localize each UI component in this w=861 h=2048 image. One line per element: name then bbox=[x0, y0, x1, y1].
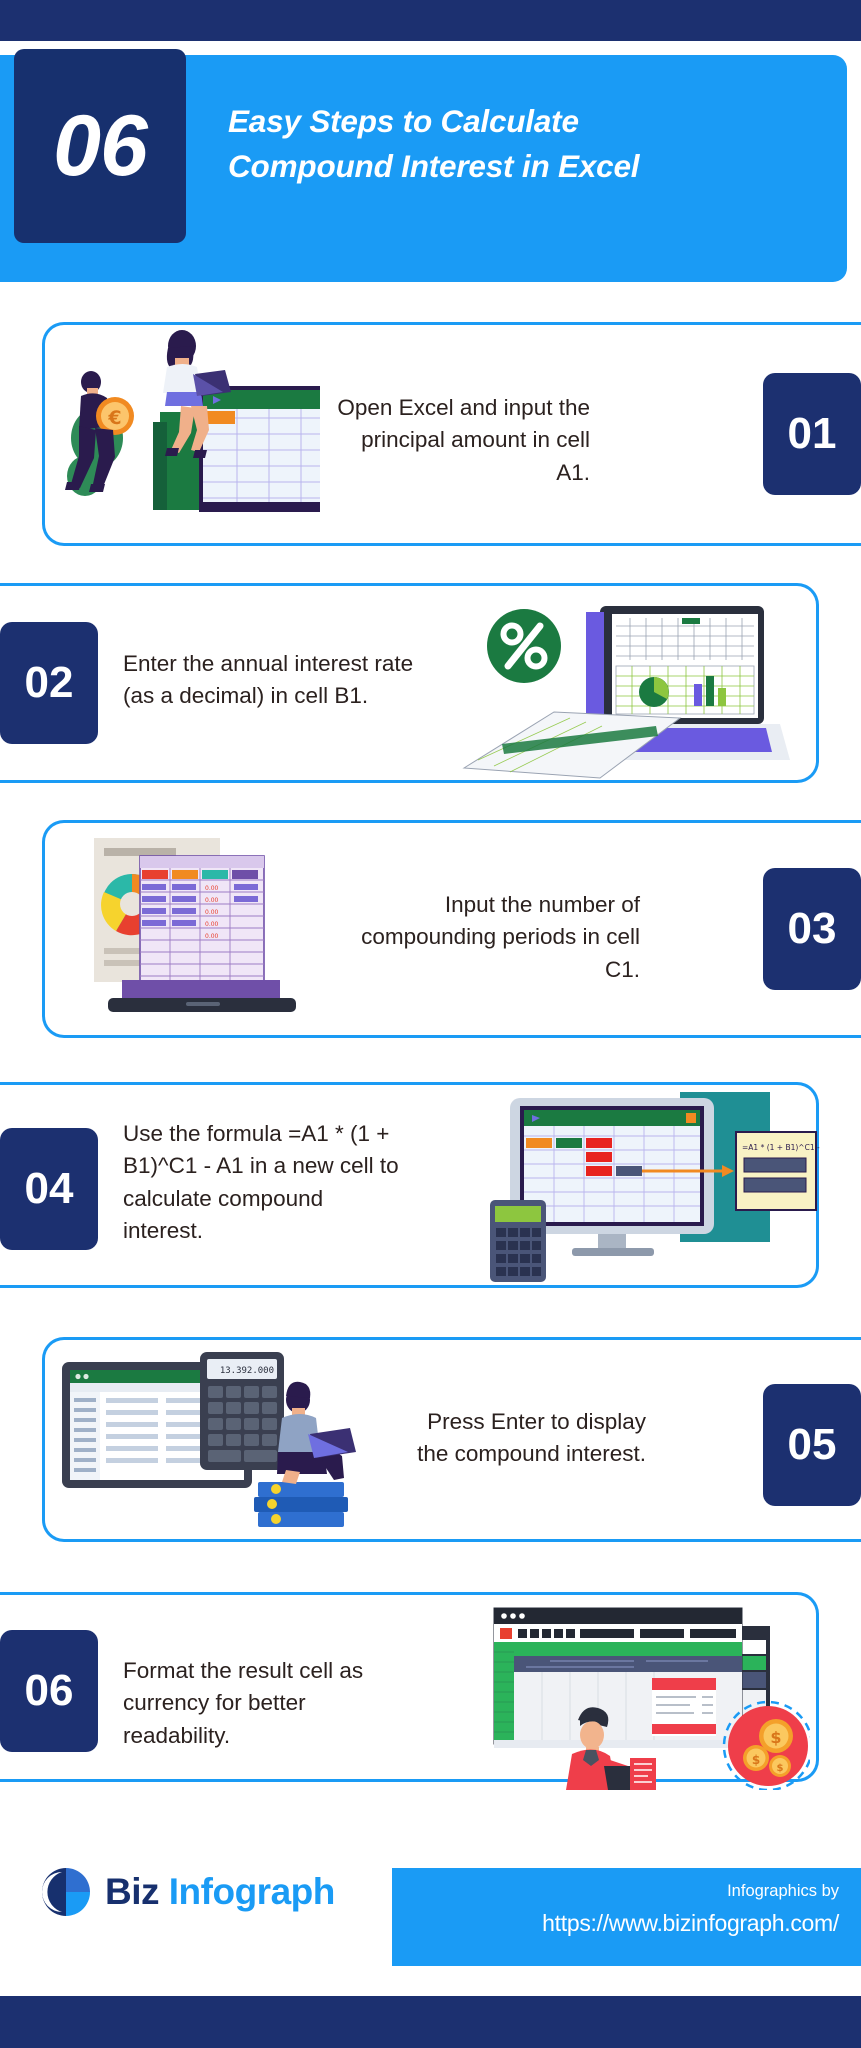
step-05-number: 05 bbox=[788, 1420, 837, 1470]
step-06-illustration: $ $ $ bbox=[480, 1600, 810, 1790]
header-step-count: 06 bbox=[53, 97, 147, 196]
footer-url-box[interactable]: Infographics by https://www.bizinfograph… bbox=[392, 1868, 861, 1966]
step-05-badge: 05 bbox=[763, 1384, 861, 1506]
laptop-percent-charts-icon bbox=[450, 592, 790, 780]
svg-text:0.00: 0.00 bbox=[205, 921, 219, 928]
tablet-calculator-man-icon: 13.392.000 bbox=[62, 1348, 382, 1540]
svg-text:$: $ bbox=[770, 1728, 781, 1747]
footer-website-link[interactable]: https://www.bizinfograph.com/ bbox=[392, 1904, 839, 1943]
step-01-number: 01 bbox=[788, 409, 837, 459]
header-step-count-badge: 06 bbox=[14, 49, 186, 243]
step-05-illustration: 13.392.000 bbox=[62, 1348, 382, 1540]
step-04-illustration: =A1 * (1 + B1)^C1 - A1 bbox=[490, 1092, 820, 1286]
step-05-calculator-display: 13.392.000 bbox=[220, 1366, 274, 1376]
step-03-illustration: 0.000.00 0.000.00 0.00 bbox=[78, 830, 338, 1030]
pie-chart-logo-icon bbox=[40, 1866, 92, 1918]
browser-spreadsheet-coins-icon: $ $ $ bbox=[480, 1600, 810, 1790]
step-05-text: Press Enter to display the compound inte… bbox=[390, 1406, 646, 1471]
step-02-badge: 02 bbox=[0, 622, 98, 744]
step-02-illustration bbox=[450, 592, 790, 780]
step-06-text: Format the result cell as currency for b… bbox=[123, 1655, 413, 1752]
brand-logo-text: Biz Infograph bbox=[105, 1871, 335, 1913]
step-01-illustration: € bbox=[55, 330, 320, 542]
step-06-badge: 06 bbox=[0, 1630, 98, 1752]
page-title: Easy Steps to Calculate Compound Interes… bbox=[228, 99, 811, 188]
svg-text:0.00: 0.00 bbox=[205, 885, 219, 892]
svg-text:€: € bbox=[107, 407, 121, 429]
brand-logo-biz: Biz bbox=[105, 1871, 159, 1912]
svg-text:0.00: 0.00 bbox=[205, 897, 219, 904]
step-03-number: 03 bbox=[788, 904, 837, 954]
infographics-by-label: Infographics by bbox=[392, 1878, 839, 1904]
brand-logo-infograph: Infograph bbox=[169, 1871, 335, 1912]
step-01-badge: 01 bbox=[763, 373, 861, 495]
step-06-number: 06 bbox=[25, 1666, 74, 1716]
step-03-badge: 03 bbox=[763, 868, 861, 990]
step-01-text: Open Excel and input the principal amoun… bbox=[330, 392, 590, 489]
brand-logo[interactable]: Biz Infograph bbox=[40, 1866, 335, 1918]
svg-text:$: $ bbox=[752, 1753, 760, 1767]
step-04-badge: 04 bbox=[0, 1128, 98, 1250]
monitor-formula-callout-icon: =A1 * (1 + B1)^C1 - A1 bbox=[490, 1092, 820, 1286]
step-04-text: Use the formula =A1 * (1 + B1)^C1 - A1 i… bbox=[123, 1118, 403, 1248]
page-title-line2: Compound Interest in Excel bbox=[228, 144, 811, 189]
bottom-accent-bar bbox=[0, 1996, 861, 2048]
svg-text:0.00: 0.00 bbox=[205, 909, 219, 916]
top-accent-bar bbox=[0, 0, 861, 41]
svg-text:$: $ bbox=[777, 1763, 784, 1774]
step-03-text: Input the number of compounding periods … bbox=[360, 889, 640, 986]
page-title-line1: Easy Steps to Calculate bbox=[228, 99, 811, 144]
step-02-text: Enter the annual interest rate (as a dec… bbox=[123, 648, 423, 713]
woman-on-spreadsheet-icon: € bbox=[55, 330, 320, 542]
step-04-formula-callout-text: =A1 * (1 + B1)^C1 - A1 bbox=[742, 1143, 820, 1152]
laptop-pie-chart-table-icon: 0.000.00 0.000.00 0.00 bbox=[78, 830, 338, 1030]
step-02-number: 02 bbox=[25, 658, 74, 708]
svg-text:0.00: 0.00 bbox=[205, 933, 219, 940]
header-banner: 06 Easy Steps to Calculate Compound Inte… bbox=[0, 55, 847, 282]
step-04-number: 04 bbox=[25, 1164, 74, 1214]
